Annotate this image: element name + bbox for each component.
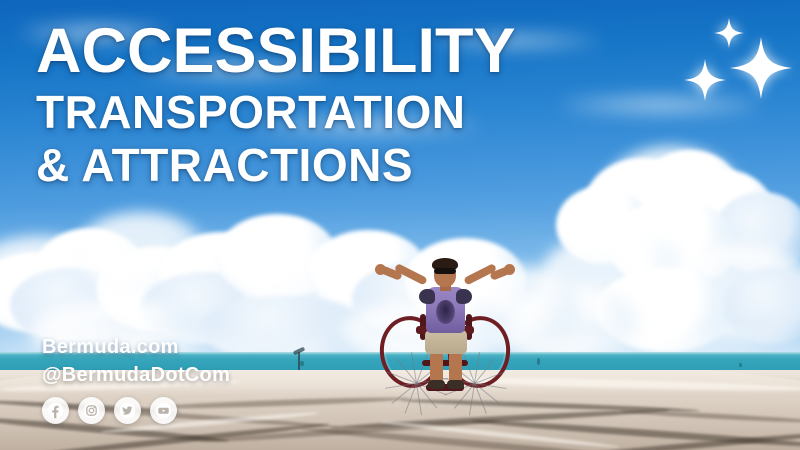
shoulder-right bbox=[456, 289, 472, 304]
instagram-icon[interactable] bbox=[78, 397, 105, 424]
headline-line-3: & ATTRACTIONS bbox=[36, 139, 516, 192]
sparkle-star-medium bbox=[684, 58, 726, 102]
accessibility-promo-banner: ACCESSIBILITY TRANSPORTATION & ATTRACTIO… bbox=[0, 0, 800, 450]
wheelchair-user-figure bbox=[386, 256, 506, 392]
headline-line-1: ACCESSIBILITY bbox=[36, 16, 516, 86]
twitter-icon[interactable] bbox=[114, 397, 141, 424]
social-links bbox=[42, 397, 230, 424]
shorts bbox=[425, 330, 467, 354]
brand-block: Bermuda.com @BermudaDotCom bbox=[42, 336, 230, 424]
tshirt-graphic bbox=[436, 300, 455, 324]
sparkle-decoration-group bbox=[686, 14, 790, 114]
leg-left bbox=[430, 350, 443, 384]
youtube-icon[interactable] bbox=[150, 397, 177, 424]
headline-line-2: TRANSPORTATION bbox=[36, 86, 516, 139]
brand-social-handle[interactable]: @BermudaDotCom bbox=[42, 364, 230, 387]
sparkle-star-large bbox=[730, 32, 792, 104]
facebook-icon[interactable] bbox=[42, 397, 69, 424]
hand-right bbox=[504, 264, 515, 275]
sandal-left bbox=[428, 380, 445, 389]
shoulder-left bbox=[419, 289, 435, 304]
headline-block: ACCESSIBILITY TRANSPORTATION & ATTRACTIO… bbox=[36, 16, 516, 192]
brand-website[interactable]: Bermuda.com bbox=[42, 336, 230, 359]
sunglasses-icon bbox=[434, 268, 456, 274]
sandal-right bbox=[447, 380, 464, 389]
leg-right bbox=[449, 350, 462, 384]
hand-left bbox=[375, 264, 386, 275]
